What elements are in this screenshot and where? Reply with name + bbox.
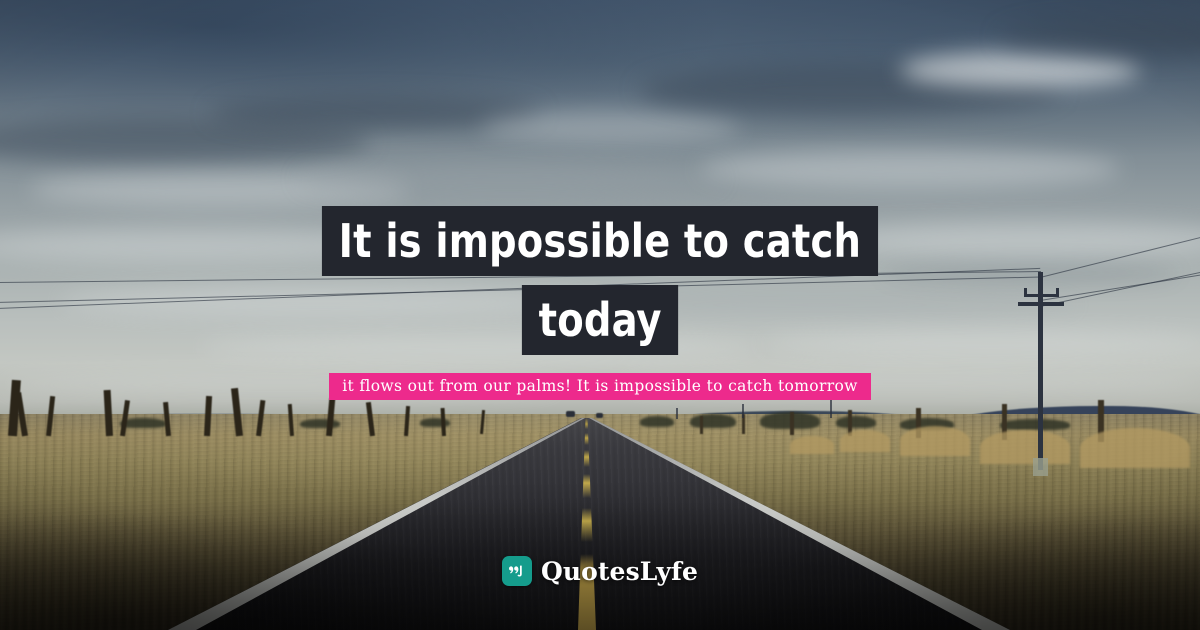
subtitle-text: it flows out from our palms! It is impos… xyxy=(329,373,871,400)
quote-text: It is impossible to catch today xyxy=(0,206,1200,355)
subtitle-bar: it flows out from our palms! It is impos… xyxy=(0,373,1200,400)
quoteslyfe-logo[interactable]: QuotesLyfe xyxy=(0,556,1200,586)
logo-text: QuotesLyfe xyxy=(541,557,698,586)
quote-line-row: It is impossible to catch xyxy=(0,206,1200,276)
quote-card: It is impossible to catch today it flows… xyxy=(0,0,1200,630)
quote-line-2: today xyxy=(522,285,679,355)
quote-smiley-icon xyxy=(502,556,532,586)
quote-line-1: It is impossible to catch xyxy=(322,206,878,276)
quote-line-row: today xyxy=(0,285,1200,355)
